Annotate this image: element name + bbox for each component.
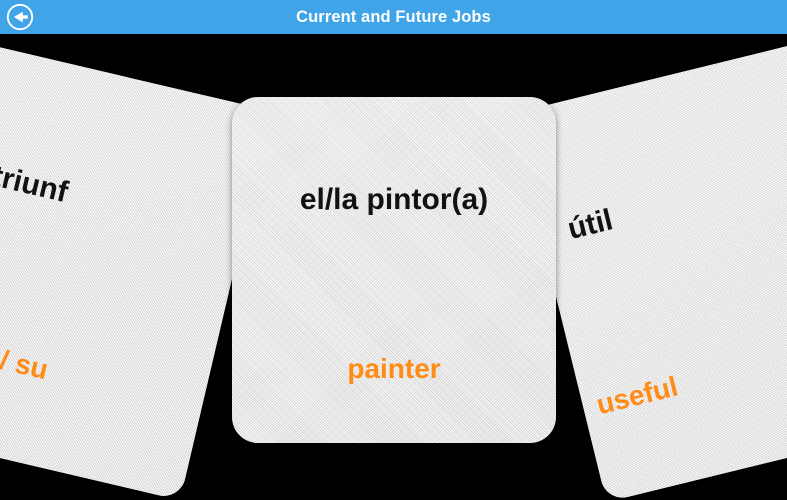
flashcard-translation: painter (232, 353, 556, 385)
flashcard-translation: triumph/ su (0, 284, 206, 422)
flashcard-current[interactable]: el/la pintor(a) painter (232, 97, 556, 443)
flashcard-term: útil (537, 109, 787, 254)
flashcard-translation: useful (580, 281, 787, 424)
flashcard-term: el triunf (0, 111, 246, 251)
flashcard-previous[interactable]: el triunf triumph/ su (0, 34, 271, 500)
page-title: Current and Future Jobs (0, 0, 787, 34)
app-header: Current and Future Jobs (0, 0, 787, 34)
flashcard-term: el/la pintor(a) (232, 183, 556, 217)
flashcard-stage: el triunf triumph/ su útil useful el/la … (0, 34, 787, 500)
